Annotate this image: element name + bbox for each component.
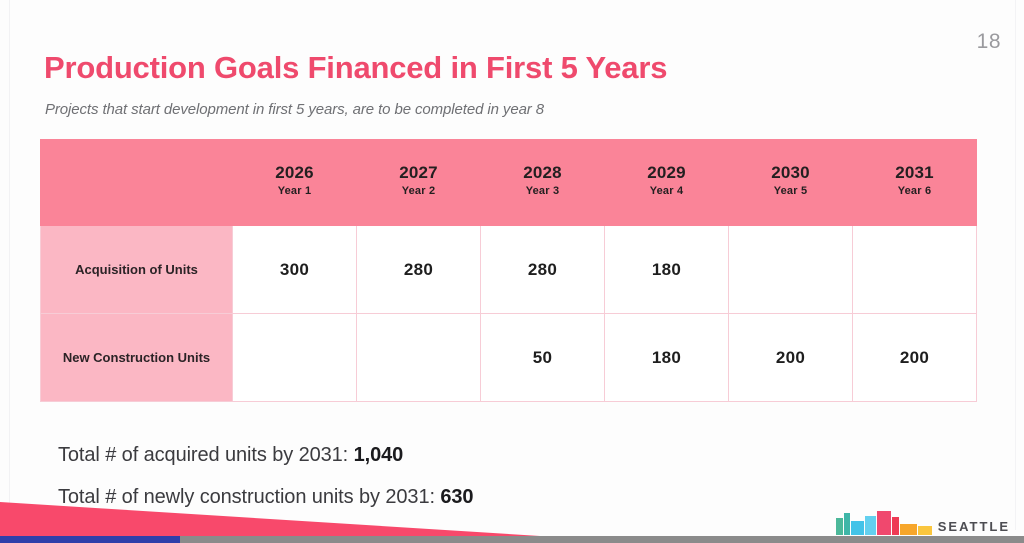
cell-construction-2028: 50 bbox=[481, 314, 605, 402]
cell-construction-2030: 200 bbox=[729, 314, 853, 402]
row-label-new-construction: New Construction Units bbox=[41, 314, 233, 402]
cell-acquisition-2026: 300 bbox=[233, 226, 357, 314]
video-progress-track[interactable] bbox=[0, 536, 1024, 543]
seattle-logo: SEATTLE bbox=[836, 507, 1010, 535]
column-year-label: 2031 bbox=[853, 164, 976, 183]
row-label-acquisition: Acquisition of Units bbox=[41, 226, 233, 314]
table-row: Acquisition of Units 300 280 280 180 bbox=[41, 226, 977, 314]
page-title: Production Goals Financed in First 5 Yea… bbox=[44, 50, 667, 86]
table-row: New Construction Units 50 180 200 200 bbox=[41, 314, 977, 402]
slide-left-edge bbox=[9, 0, 10, 530]
column-ordinal-label: Year 3 bbox=[481, 183, 604, 201]
logo-block-pink bbox=[877, 511, 891, 535]
logo-block-teal bbox=[844, 513, 850, 535]
page-number: 18 bbox=[977, 30, 1001, 54]
column-ordinal-label: Year 4 bbox=[605, 183, 728, 201]
page-subtitle: Projects that start development in first… bbox=[45, 101, 544, 118]
cell-acquisition-2027: 280 bbox=[357, 226, 481, 314]
column-year-label: 2028 bbox=[481, 164, 604, 183]
total-acquired-label: Total # of acquired units by 2031: bbox=[58, 444, 354, 466]
logo-block-green bbox=[836, 518, 843, 535]
logo-block-yellow bbox=[918, 526, 932, 535]
total-construction-label: Total # of newly construction units by 2… bbox=[58, 486, 440, 508]
slide-right-edge bbox=[1015, 0, 1016, 530]
column-header-2029: 2029 Year 4 bbox=[605, 140, 729, 226]
column-header-2030: 2030 Year 5 bbox=[729, 140, 853, 226]
total-construction-value: 630 bbox=[440, 486, 473, 508]
cell-acquisition-2031 bbox=[853, 226, 977, 314]
logo-block-red bbox=[892, 517, 899, 535]
column-year-label: 2026 bbox=[233, 164, 356, 183]
column-year-label: 2029 bbox=[605, 164, 728, 183]
column-header-2028: 2028 Year 3 bbox=[481, 140, 605, 226]
cell-construction-2029: 180 bbox=[605, 314, 729, 402]
table-header-row: 2026 Year 1 2027 Year 2 2028 Year 3 2029… bbox=[41, 140, 977, 226]
column-header-2027: 2027 Year 2 bbox=[357, 140, 481, 226]
totals-block: Total # of acquired units by 2031: 1,040… bbox=[58, 434, 473, 518]
column-year-label: 2027 bbox=[357, 164, 480, 183]
cell-construction-2026 bbox=[233, 314, 357, 402]
cell-construction-2027 bbox=[357, 314, 481, 402]
column-header-2031: 2031 Year 6 bbox=[853, 140, 977, 226]
cell-acquisition-2028: 280 bbox=[481, 226, 605, 314]
logo-block-cyan-large bbox=[865, 516, 876, 535]
logo-block-cyan-small bbox=[851, 521, 864, 535]
column-ordinal-label: Year 6 bbox=[853, 183, 976, 201]
logo-block-orange bbox=[900, 524, 917, 535]
logo-wordmark: SEATTLE bbox=[938, 519, 1010, 535]
column-header-2026: 2026 Year 1 bbox=[233, 140, 357, 226]
seattle-skyline-icon bbox=[836, 507, 932, 535]
cell-acquisition-2029: 180 bbox=[605, 226, 729, 314]
column-ordinal-label: Year 1 bbox=[233, 183, 356, 201]
column-ordinal-label: Year 2 bbox=[357, 183, 480, 201]
column-year-label: 2030 bbox=[729, 164, 852, 183]
total-acquired-value: 1,040 bbox=[354, 444, 404, 466]
video-progress-fill[interactable] bbox=[0, 536, 180, 543]
slide-canvas: 18 Production Goals Financed in First 5 … bbox=[0, 0, 1024, 543]
table-corner-cell bbox=[41, 140, 233, 226]
total-acquired-units: Total # of acquired units by 2031: 1,040 bbox=[58, 434, 473, 476]
cell-construction-2031: 200 bbox=[853, 314, 977, 402]
column-ordinal-label: Year 5 bbox=[729, 183, 852, 201]
production-goals-table: 2026 Year 1 2027 Year 2 2028 Year 3 2029… bbox=[40, 139, 977, 402]
cell-acquisition-2030 bbox=[729, 226, 853, 314]
